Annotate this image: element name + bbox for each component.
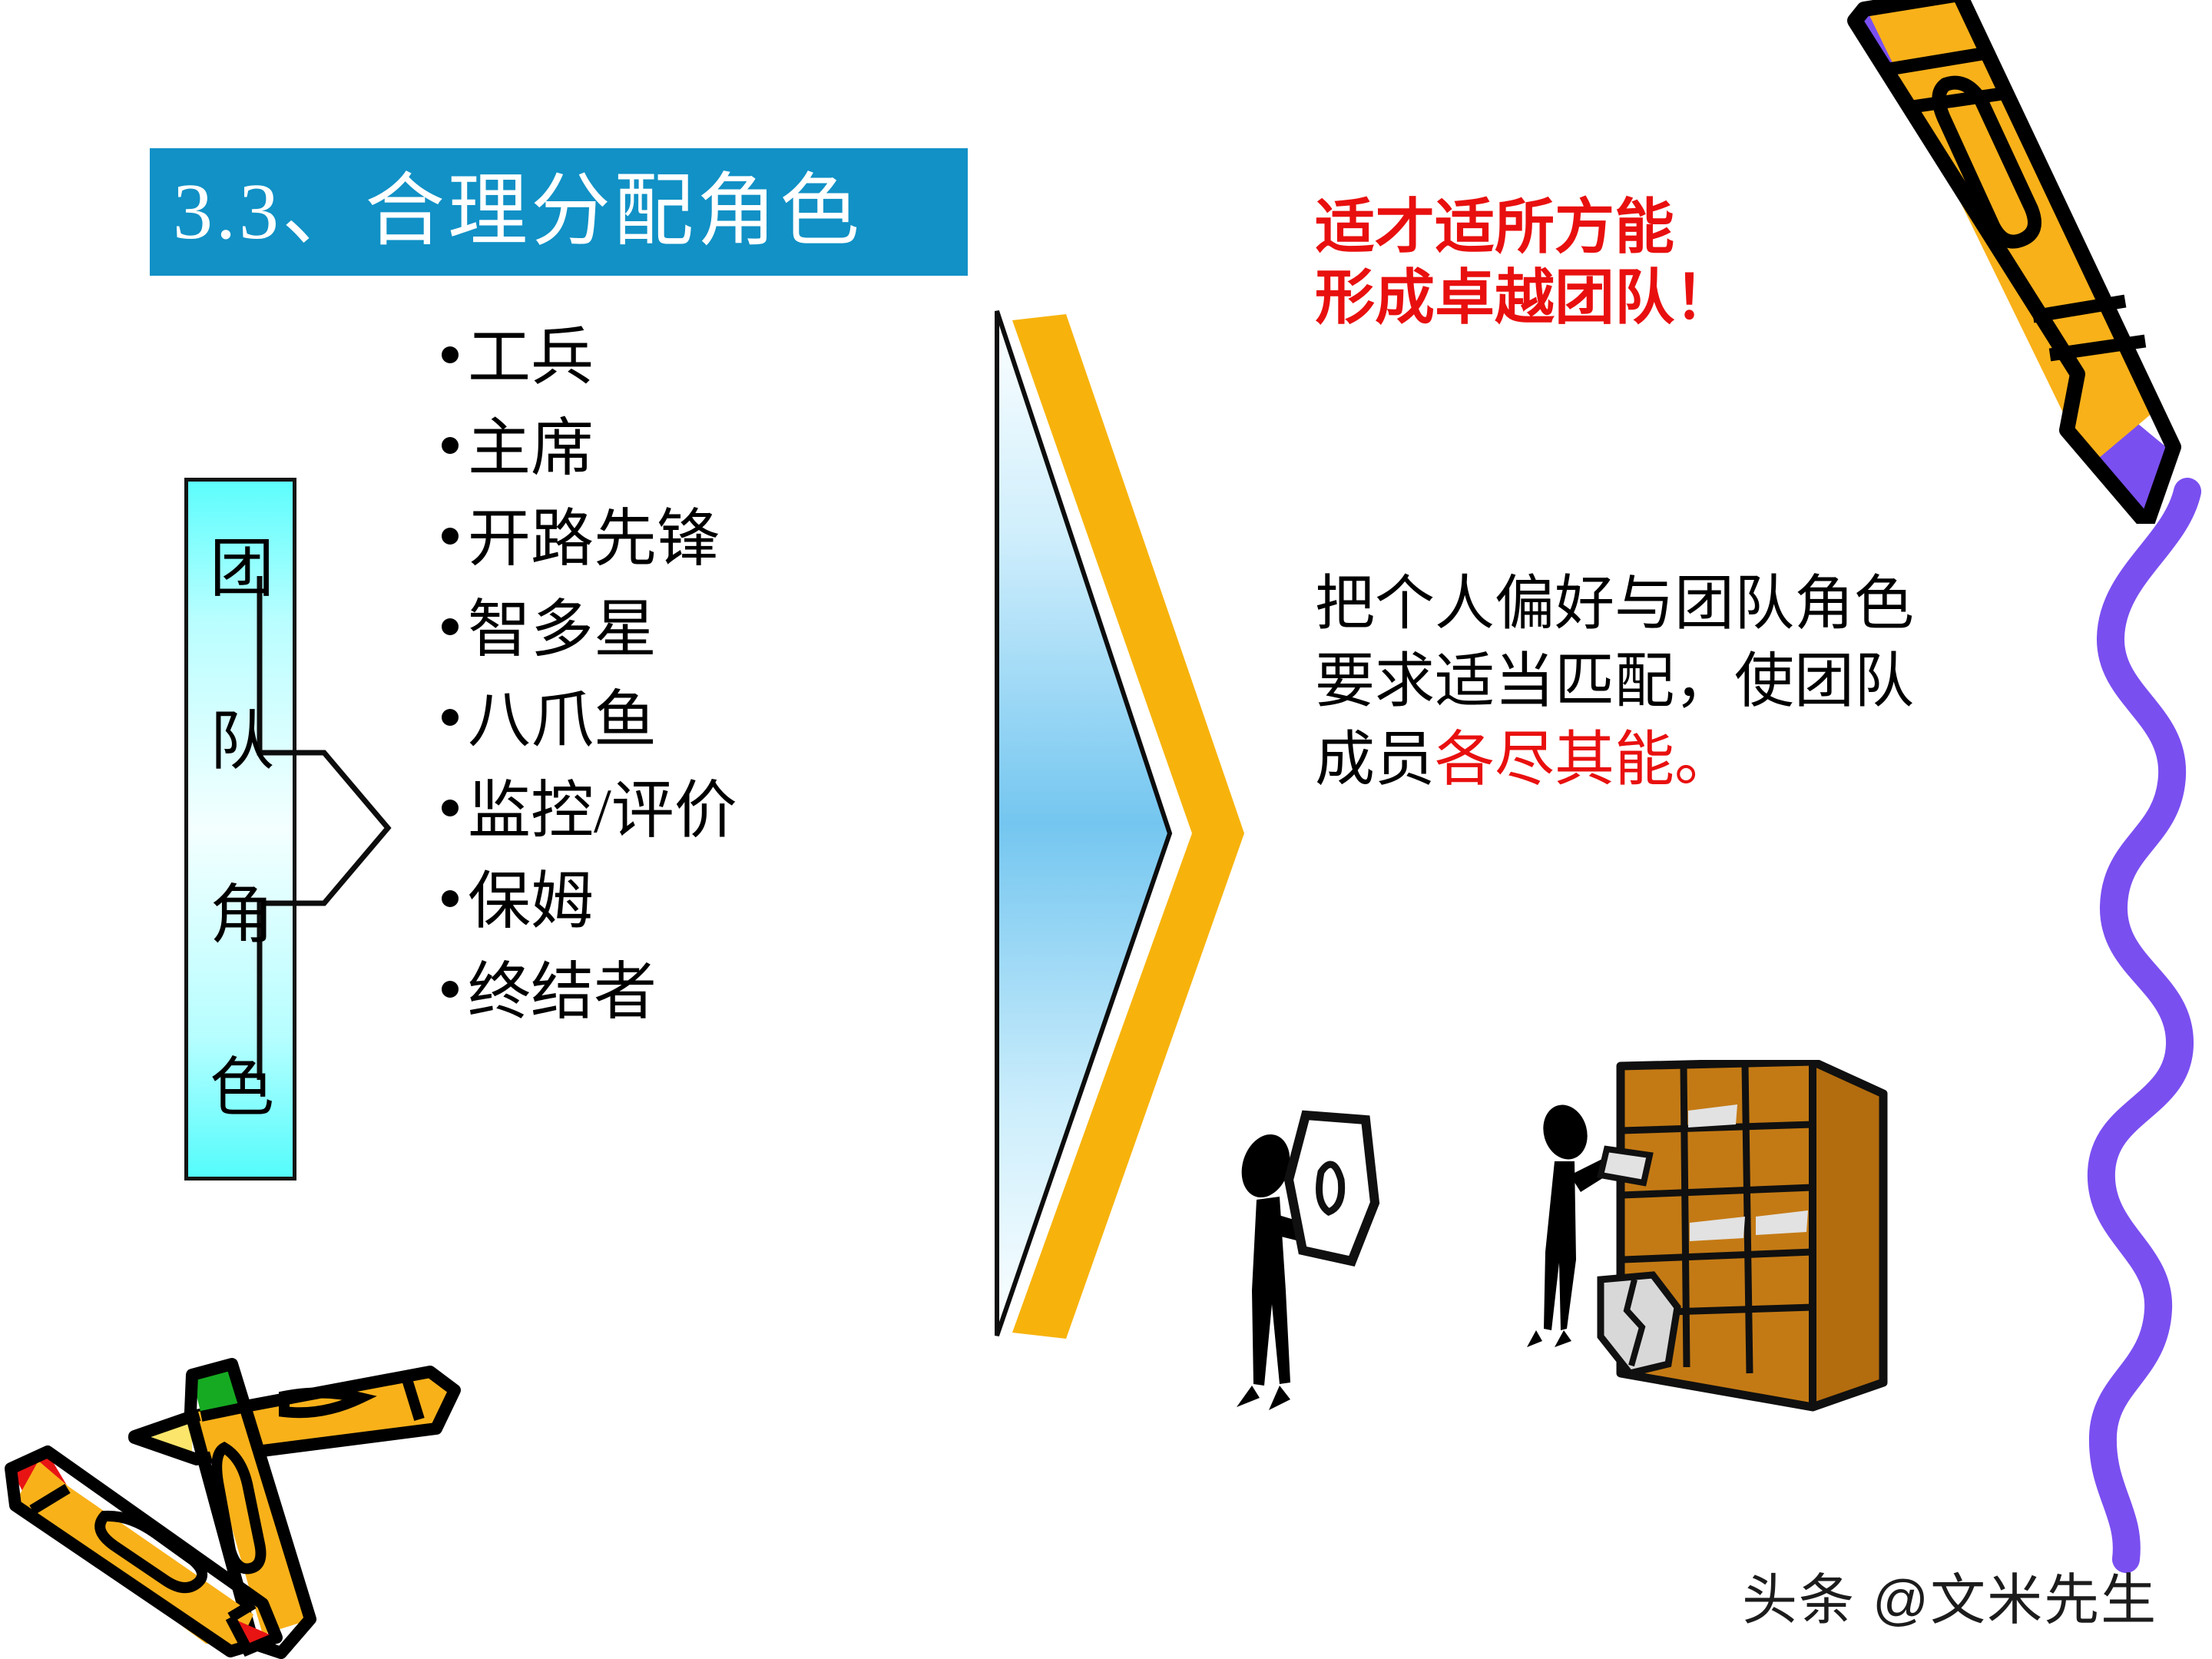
list-item: 工兵: [442, 326, 918, 417]
team-role-vertical-label: 团 队 角 色: [196, 538, 288, 1121]
page-title: 3.3、合理分配角色: [173, 172, 863, 252]
headline-line-1: 适才适所方能: [1315, 192, 1899, 263]
crayon-orange-icon: [1824, 0, 2212, 524]
team-roles-list: 工兵 主席 开路先锋 智多星 八爪鱼 监控/评价 保姆 终结者: [442, 326, 918, 1051]
crayon-yellow-tip: [134, 1372, 455, 1459]
role-label: 终结者: [468, 961, 657, 1024]
bullet-dot-icon: [442, 528, 459, 545]
role-label: 保姆: [468, 870, 594, 933]
bullet-dot-icon: [442, 981, 459, 998]
role-label: 开路先锋: [468, 508, 720, 571]
watermark-text: 头条 @文米先生: [1742, 1555, 2157, 1635]
bullet-dot-icon: [442, 618, 459, 635]
role-label: 智多星: [468, 598, 657, 661]
two-people-sorting-mail-icon: [1229, 1060, 1936, 1475]
role-label: 主席: [468, 417, 594, 480]
paragraph-red-emphasis: 各尽其能。: [1435, 726, 1734, 793]
headline-red: 适才适所方能 形成卓越团队！: [1315, 192, 1899, 333]
role-label: 工兵: [468, 326, 594, 389]
team-role-char-4: 色: [210, 1057, 274, 1121]
bullet-dot-icon: [442, 437, 459, 454]
large-paper: [1289, 1115, 1375, 1261]
list-item: 开路先锋: [442, 508, 918, 598]
team-role-char-1: 团: [210, 538, 274, 602]
bullet-dot-icon: [442, 800, 459, 816]
role-label: 八爪鱼: [468, 689, 657, 752]
bullet-dot-icon: [442, 890, 459, 907]
bullet-dot-icon: [442, 709, 459, 726]
list-item: 智多星: [442, 598, 918, 689]
headline-line-2: 形成卓越团队！: [1315, 263, 1899, 333]
list-item: 八爪鱼: [442, 689, 918, 780]
list-item: 终结者: [442, 961, 918, 1051]
list-item: 主席: [442, 417, 918, 508]
paper-in-hand: [1601, 1149, 1650, 1183]
body-paragraph: 把个人偏好与团队角色要求适当匹配，使团队成员各尽其能。: [1315, 565, 1929, 798]
purple-zigzag-scribble-icon: [1997, 461, 2212, 1598]
team-role-char-2: 队: [210, 710, 274, 775]
list-item: 保姆: [442, 870, 918, 961]
three-crossed-crayons-icon: [0, 1321, 492, 1659]
role-label: 监控/评价: [468, 780, 737, 843]
list-item: 监控/评价: [442, 780, 918, 870]
title-banner: 3.3、合理分配角色: [150, 148, 968, 276]
right-pointing-triangle-arrow-icon: [991, 303, 1244, 1340]
bullet-dot-icon: [442, 346, 459, 363]
team-role-char-3: 角: [210, 884, 274, 949]
